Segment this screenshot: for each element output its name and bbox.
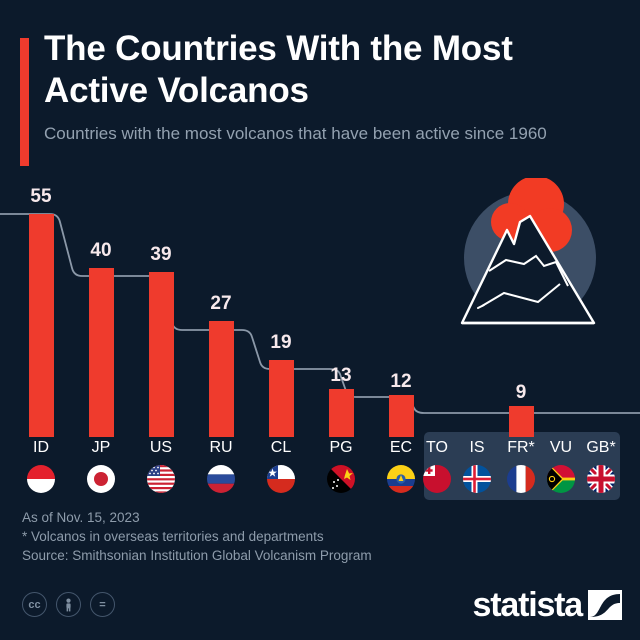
france-flag-icon bbox=[507, 465, 535, 493]
bar-value-JP: 40 bbox=[71, 240, 131, 262]
category-label-PG: PG bbox=[311, 439, 371, 457]
statista-mark-icon bbox=[588, 590, 622, 620]
category-label-JP: JP bbox=[71, 439, 131, 457]
cc-by-person-icon[interactable] bbox=[56, 592, 81, 617]
bar-CL[interactable] bbox=[269, 360, 294, 437]
page-subtitle: Countries with the most volcanos that ha… bbox=[44, 122, 604, 146]
united-kingdom-flag-icon bbox=[587, 465, 615, 493]
vanuatu-flag-icon bbox=[547, 465, 575, 493]
papua-new-guinea-flag-icon bbox=[327, 465, 355, 493]
footer-as-of: As of Nov. 15, 2023 bbox=[22, 508, 522, 527]
bar-PG[interactable] bbox=[329, 389, 354, 437]
category-label-ID: ID bbox=[11, 439, 71, 457]
bar-ID[interactable] bbox=[29, 214, 54, 437]
bar-value-CL: 19 bbox=[251, 332, 311, 354]
category-label-US: US bbox=[131, 439, 191, 457]
creative-commons-icons: cc = bbox=[22, 592, 115, 617]
bar-value-EC: 12 bbox=[371, 371, 431, 393]
usa-flag-icon bbox=[147, 465, 175, 493]
bar-EC[interactable] bbox=[389, 395, 414, 437]
japan-flag-icon bbox=[87, 465, 115, 493]
bar-value-RU: 27 bbox=[191, 293, 251, 315]
title-accent-bar bbox=[20, 38, 29, 166]
bar-value-US: 39 bbox=[131, 244, 191, 266]
cc-nd-equals-icon[interactable]: = bbox=[90, 592, 115, 617]
russia-flag-icon bbox=[207, 465, 235, 493]
bar-value-FR: 9 bbox=[491, 382, 551, 404]
category-label-GB: GB* bbox=[571, 439, 631, 457]
indonesia-flag-icon bbox=[27, 465, 55, 493]
ecuador-flag-icon bbox=[387, 465, 415, 493]
statista-wordmark: statista bbox=[473, 588, 582, 622]
creative-commons-icon[interactable]: cc bbox=[22, 592, 47, 617]
bar-US[interactable] bbox=[149, 272, 174, 437]
statista-logo[interactable]: statista bbox=[473, 588, 622, 622]
bar-RU[interactable] bbox=[209, 321, 234, 437]
chile-flag-icon bbox=[267, 465, 295, 493]
page-title: The Countries With the Most Active Volca… bbox=[44, 28, 604, 112]
bar-value-PG: 13 bbox=[311, 365, 371, 387]
bar-JP[interactable] bbox=[89, 268, 114, 437]
tonga-flag-icon bbox=[423, 465, 451, 493]
bar-FR[interactable] bbox=[509, 406, 534, 437]
footer-note: * Volcanos in overseas territories and d… bbox=[22, 527, 522, 546]
iceland-flag-icon bbox=[463, 465, 491, 493]
footer-source: Source: Smithsonian Institution Global V… bbox=[22, 546, 522, 565]
category-label-CL: CL bbox=[251, 439, 311, 457]
footer-notes: As of Nov. 15, 2023 * Volcanos in overse… bbox=[22, 508, 522, 565]
volcano-illustration bbox=[444, 178, 616, 346]
category-label-RU: RU bbox=[191, 439, 251, 457]
bar-value-ID: 55 bbox=[11, 186, 71, 208]
